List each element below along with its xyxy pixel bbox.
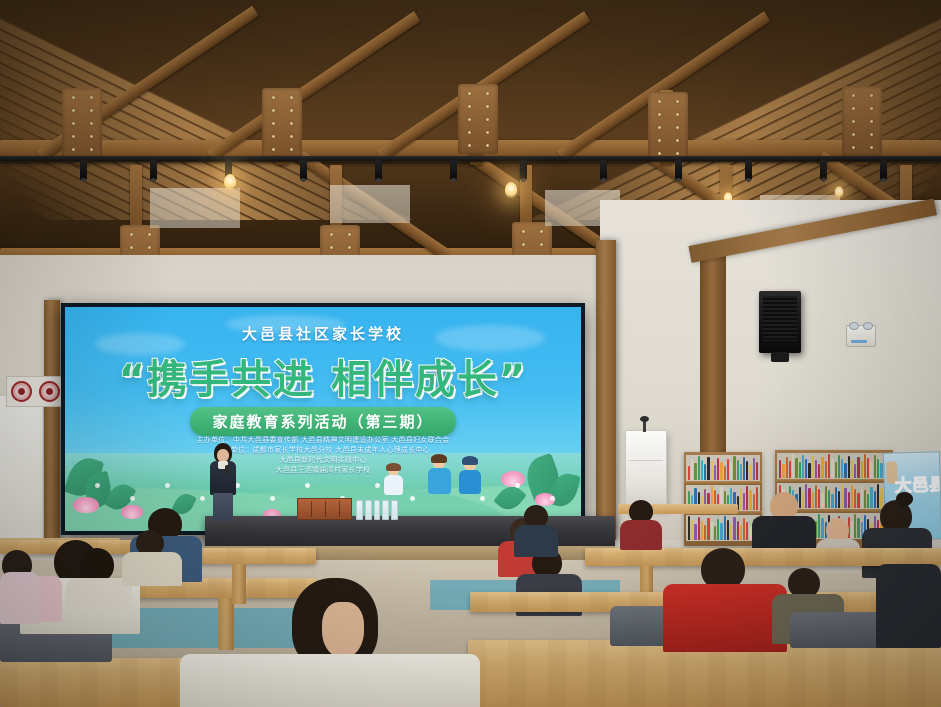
bookshelf-row (777, 453, 891, 479)
book-spine (838, 455, 840, 478)
book-spine (857, 493, 859, 508)
bolt (870, 146, 873, 149)
truss-gusset (262, 88, 302, 158)
bolt (658, 139, 661, 142)
bolt (676, 126, 679, 129)
spotlight-icon (450, 160, 457, 180)
bolt (676, 100, 679, 103)
lectern-top (629, 447, 663, 461)
book-spine (714, 465, 716, 480)
microphone-icon (225, 465, 229, 476)
bolt (272, 122, 275, 125)
book-spine (874, 455, 876, 478)
audience-person-beige-coat (122, 530, 182, 580)
book-spine (818, 464, 820, 478)
spotlight-icon (520, 160, 527, 180)
bolt (486, 105, 489, 108)
book-spine (835, 462, 837, 478)
bolt (72, 135, 75, 138)
book-spine (743, 518, 745, 540)
audience-person-dark-right-fg (876, 556, 941, 648)
book-spine (808, 463, 810, 478)
bolt (72, 96, 75, 99)
book-spine (877, 459, 879, 478)
book-spine (831, 494, 833, 508)
audience-person-red-jacket (663, 548, 787, 644)
book-spine (727, 459, 729, 480)
banner-org-line: 承办单位：成都市家长学校大邑分校 大邑县未成年人心理成长中心 (65, 445, 581, 455)
banner-org-line: 大邑县王泗镇庙湾村家长学校 (65, 465, 581, 475)
book-spine (720, 523, 722, 540)
book-spine (753, 458, 755, 480)
emergency-light-icon (846, 325, 876, 347)
book-spine (740, 464, 742, 480)
book-spine (688, 516, 690, 540)
book-spine (714, 526, 716, 540)
book-spine (698, 456, 700, 480)
bolt (348, 233, 351, 236)
bolt (272, 96, 275, 99)
water-bottle (382, 500, 389, 520)
banner-star-flower (550, 496, 555, 501)
emblem-icon-left (11, 381, 32, 402)
bolt (90, 96, 93, 99)
book-spine (717, 458, 719, 480)
book-spine (851, 460, 853, 478)
banner-lotus-flower (73, 497, 99, 513)
ceiling-speaker-icon (759, 291, 801, 353)
book-spine (730, 524, 732, 540)
book-spine (707, 457, 709, 480)
water-bottle (365, 500, 372, 520)
left-wall-panel (0, 395, 44, 555)
book-spine (707, 518, 709, 540)
bolt (852, 120, 855, 123)
book-spine (688, 466, 690, 480)
book-spine (740, 525, 742, 540)
spotlight-icon (375, 160, 382, 180)
spotlight-icon (150, 160, 157, 180)
ceiling-light-bulb (505, 182, 517, 198)
bolt (148, 246, 151, 249)
banner-star-flower (95, 483, 100, 488)
bolt (468, 144, 471, 147)
bolt (486, 144, 489, 147)
book-spine (835, 487, 837, 508)
book-spine (701, 521, 703, 540)
banner-school-name: 大邑县社区家长学校 (65, 323, 581, 344)
wooden-post-center-right (596, 240, 616, 540)
book-spine (730, 463, 732, 480)
bolt (852, 107, 855, 110)
book-spine (786, 457, 788, 478)
table-left-front (0, 658, 190, 707)
book-spine (812, 456, 814, 478)
bolt (852, 94, 855, 97)
bolt (486, 118, 489, 121)
book-spine (867, 458, 869, 478)
water-bottle (374, 500, 381, 520)
bolt (468, 92, 471, 95)
book-spine (691, 520, 693, 540)
bolt (676, 113, 679, 116)
stage-wooden-prop-box (297, 498, 352, 520)
banner-star-flower (410, 496, 415, 501)
bolt (852, 146, 855, 149)
book-spine (854, 464, 856, 478)
book-spine (733, 517, 735, 540)
bolt (540, 230, 543, 233)
book-spine (828, 454, 830, 478)
book-spine (727, 520, 729, 540)
book-spine (838, 491, 840, 508)
banner-subtitle: 家庭教育系列活动（第三期） (190, 407, 455, 436)
banner-headline: “携手共进 相伴成长” (65, 347, 581, 405)
banner-organizer-lines: 主办单位：中共大邑县委宣传部 大邑县精神文明建设办公室 大邑县妇女联合会 承办单… (65, 435, 581, 475)
audience-person-child-blue-far (620, 500, 662, 544)
banner-org-line: 主办单位：中共大邑县委宣传部 大邑县精神文明建设办公室 大邑县妇女联合会 (65, 435, 581, 445)
book-spine (740, 489, 742, 510)
book-spine (841, 484, 843, 508)
bolt (90, 148, 93, 151)
book-spine (831, 458, 833, 478)
book-spine (701, 460, 703, 480)
bolt (870, 133, 873, 136)
book-spine (828, 490, 830, 508)
photo-scene: 大邑县社区家长学校 “携手共进 相伴成长” 家庭教育系列活动（第三期） 主办单位… (0, 0, 941, 707)
bolt (72, 148, 75, 151)
bolt (130, 246, 133, 249)
roof-light-gap (150, 188, 240, 228)
book-spine (711, 522, 713, 540)
wooden-post-left (44, 300, 60, 550)
spotlight-icon (675, 160, 682, 180)
book-spine (704, 525, 706, 540)
book-spine (737, 460, 739, 480)
book-spine (724, 516, 726, 540)
book-spine (815, 460, 817, 478)
wall-emblem-plate (6, 376, 64, 407)
book-spine (802, 455, 804, 478)
bolt (658, 126, 661, 129)
truss-gusset (62, 88, 102, 158)
banner-star-flower (165, 483, 170, 488)
book-spine (864, 454, 866, 478)
book-spine (782, 464, 784, 478)
bolt (658, 113, 661, 116)
light-track-rail (0, 156, 941, 161)
audience-person-left-edge (0, 560, 40, 620)
book-spine (691, 459, 693, 480)
banner-star-flower (305, 483, 310, 488)
chair-back (790, 612, 886, 648)
audience-person-blue-stripe (514, 505, 558, 551)
ceiling-light-bulb (835, 186, 843, 197)
spotlight-icon (80, 160, 87, 180)
banner-star-flower (270, 496, 275, 501)
book-spine (746, 461, 748, 480)
lectern-microphone-icon (643, 420, 646, 432)
book-spine (733, 456, 735, 480)
bolt (72, 122, 75, 125)
book-spine (799, 462, 801, 478)
bolt (540, 243, 543, 246)
book-spine (789, 461, 791, 478)
bolt (130, 233, 133, 236)
book-spine (825, 461, 827, 478)
bolt (148, 233, 151, 236)
bolt (522, 230, 525, 233)
book-spine (720, 462, 722, 480)
book-spine (841, 459, 843, 478)
lectern (625, 430, 667, 510)
bookshelf-left-unit (684, 452, 762, 546)
spotlight-icon (300, 160, 307, 180)
bolt (90, 122, 93, 125)
bolt (72, 109, 75, 112)
book-spine (724, 466, 726, 480)
banner-star-flower (515, 483, 520, 488)
bolt (676, 139, 679, 142)
bolt (290, 135, 293, 138)
presenter-figure (203, 443, 243, 521)
book-spine (870, 462, 872, 478)
bolt (870, 107, 873, 110)
bolt (870, 94, 873, 97)
book-spine (779, 460, 781, 478)
book-spine (821, 493, 823, 508)
bolt (290, 109, 293, 112)
speaker-grill (763, 296, 797, 341)
bolt (90, 135, 93, 138)
emblem-icon-right (39, 381, 60, 402)
bolt (468, 105, 471, 108)
book-spine (861, 461, 863, 478)
book-spine (805, 459, 807, 478)
bolt (852, 133, 855, 136)
book-spine (704, 464, 706, 480)
bolt (272, 148, 275, 151)
book-spine (880, 463, 882, 478)
banner-subtitle-wrap: 家庭教育系列活动（第三期） (65, 407, 581, 436)
spotlight-icon (745, 160, 752, 180)
book-spine (848, 456, 850, 478)
truss-gusset (648, 92, 688, 162)
spotlight-icon (820, 160, 827, 180)
bookshelf-row (686, 515, 760, 541)
truss-gusset (458, 84, 498, 154)
bolt (330, 233, 333, 236)
emergency-lamp-right (863, 322, 873, 330)
bolt (90, 109, 93, 112)
book-spine (737, 521, 739, 540)
book-spine (854, 489, 856, 508)
bolt (522, 243, 525, 246)
book-spine (825, 486, 827, 508)
book-spine (821, 457, 823, 478)
book-spine (756, 462, 758, 480)
book-spine (711, 461, 713, 480)
book-spine (717, 519, 719, 540)
bolt (486, 131, 489, 134)
book-spine (698, 517, 700, 540)
truss-gusset (842, 86, 882, 156)
book-spine (792, 454, 794, 478)
banner-star-flower (375, 483, 380, 488)
book-spine (851, 485, 853, 508)
bolt (348, 246, 351, 249)
bolt (290, 148, 293, 151)
bolt (870, 120, 873, 123)
bolt (658, 152, 661, 155)
bolt (272, 135, 275, 138)
water-bottles (356, 500, 398, 520)
bolt (468, 118, 471, 121)
bolt (486, 92, 489, 95)
speaker-mount (771, 352, 789, 362)
roof-light-gap (330, 185, 410, 223)
table-left-second (186, 548, 316, 564)
audience-person-white-coat-foreground (180, 578, 480, 707)
bookshelf-row (686, 455, 760, 481)
ceiling-light-bulb (224, 174, 236, 190)
book-spine (818, 489, 820, 508)
spotlight-icon (600, 160, 607, 180)
water-bottle (356, 500, 363, 520)
bolt (290, 96, 293, 99)
book-spine (746, 486, 748, 510)
presenter-legs (213, 493, 233, 521)
book-spine (848, 492, 850, 508)
spotlight-icon (880, 160, 887, 180)
bolt (272, 109, 275, 112)
book-spine (795, 458, 797, 478)
book-spine (844, 488, 846, 508)
book-spine (844, 463, 846, 478)
book-spine (743, 493, 745, 510)
emergency-led-strip (851, 340, 867, 343)
bolt (468, 131, 471, 134)
water-bottle (391, 500, 398, 520)
banner-star-flower (130, 496, 135, 501)
bolt (658, 100, 661, 103)
book-spine (694, 463, 696, 480)
book-spine (694, 524, 696, 540)
emergency-lamp-left (849, 322, 859, 330)
bolt (330, 246, 333, 249)
bolt (290, 122, 293, 125)
book-spine (743, 457, 745, 480)
book-spine (857, 457, 859, 478)
bolt (676, 152, 679, 155)
book-spine (746, 522, 748, 540)
book-spine (749, 465, 751, 480)
banner-org-line: 大邑县新时代文明实践中心 (65, 455, 581, 465)
